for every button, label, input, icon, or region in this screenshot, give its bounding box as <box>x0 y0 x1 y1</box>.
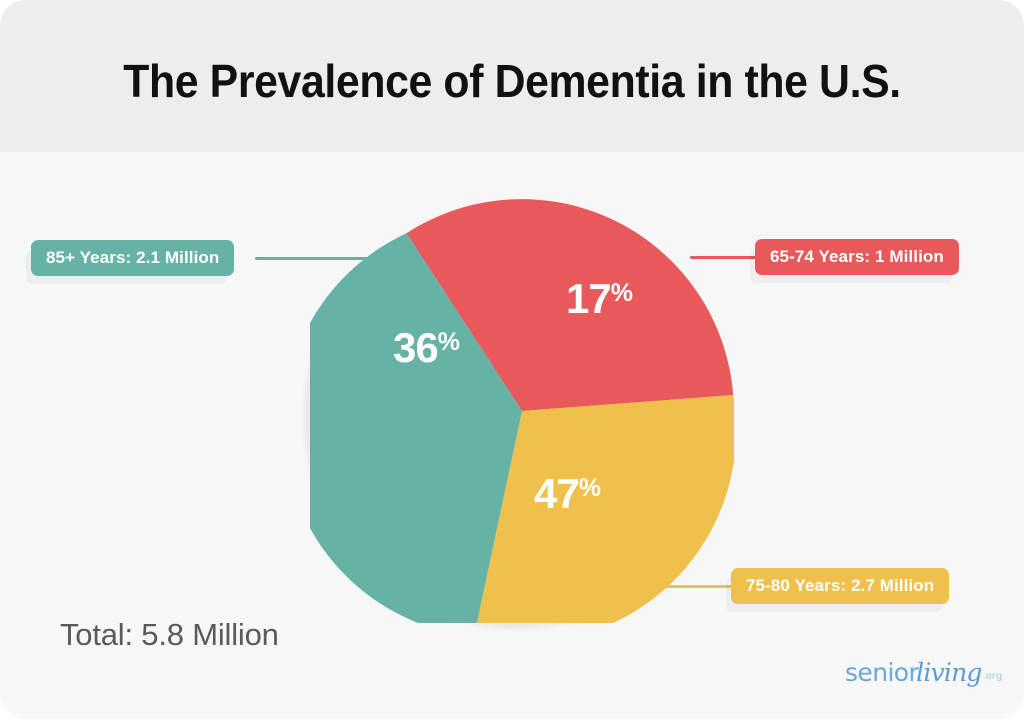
page-title: The Prevalence of Dementia in the U.S. <box>36 54 988 108</box>
seniorliving-logo[interactable]: seniorliving.org <box>845 658 1002 688</box>
slice-data-label-85-plus: 36% <box>393 327 460 369</box>
logo-word-living: living <box>916 658 981 687</box>
pie-chart <box>304 199 730 625</box>
slice-percent-value-65-74: 17 <box>566 275 611 322</box>
logo-word-org: .org <box>983 671 1003 682</box>
callout-label-85-plus[interactable]: 85+ Years: 2.1 Million <box>31 240 234 276</box>
logo-word-senior: senior <box>845 658 918 687</box>
slice-data-label-65-74: 17% <box>566 278 633 320</box>
infographic-canvas: The Prevalence of Dementia in the U.S. 1… <box>0 0 1024 721</box>
percent-sign-icon: % <box>611 279 633 307</box>
slice-percent-value-75-80: 47 <box>534 470 579 517</box>
total-text: Total: 5.8 Million <box>60 617 279 653</box>
leader-line-85-plus <box>255 257 375 260</box>
callout-label-75-80[interactable]: 75-80 Years: 2.7 Million <box>731 568 949 604</box>
percent-sign-icon: % <box>579 474 601 502</box>
callout-label-65-74[interactable]: 65-74 Years: 1 Million <box>755 239 959 275</box>
pie-slices <box>310 199 734 623</box>
slice-data-label-75-80: 47% <box>534 473 601 515</box>
percent-sign-icon: % <box>438 328 460 356</box>
slice-percent-value-85-plus: 36 <box>393 324 438 371</box>
